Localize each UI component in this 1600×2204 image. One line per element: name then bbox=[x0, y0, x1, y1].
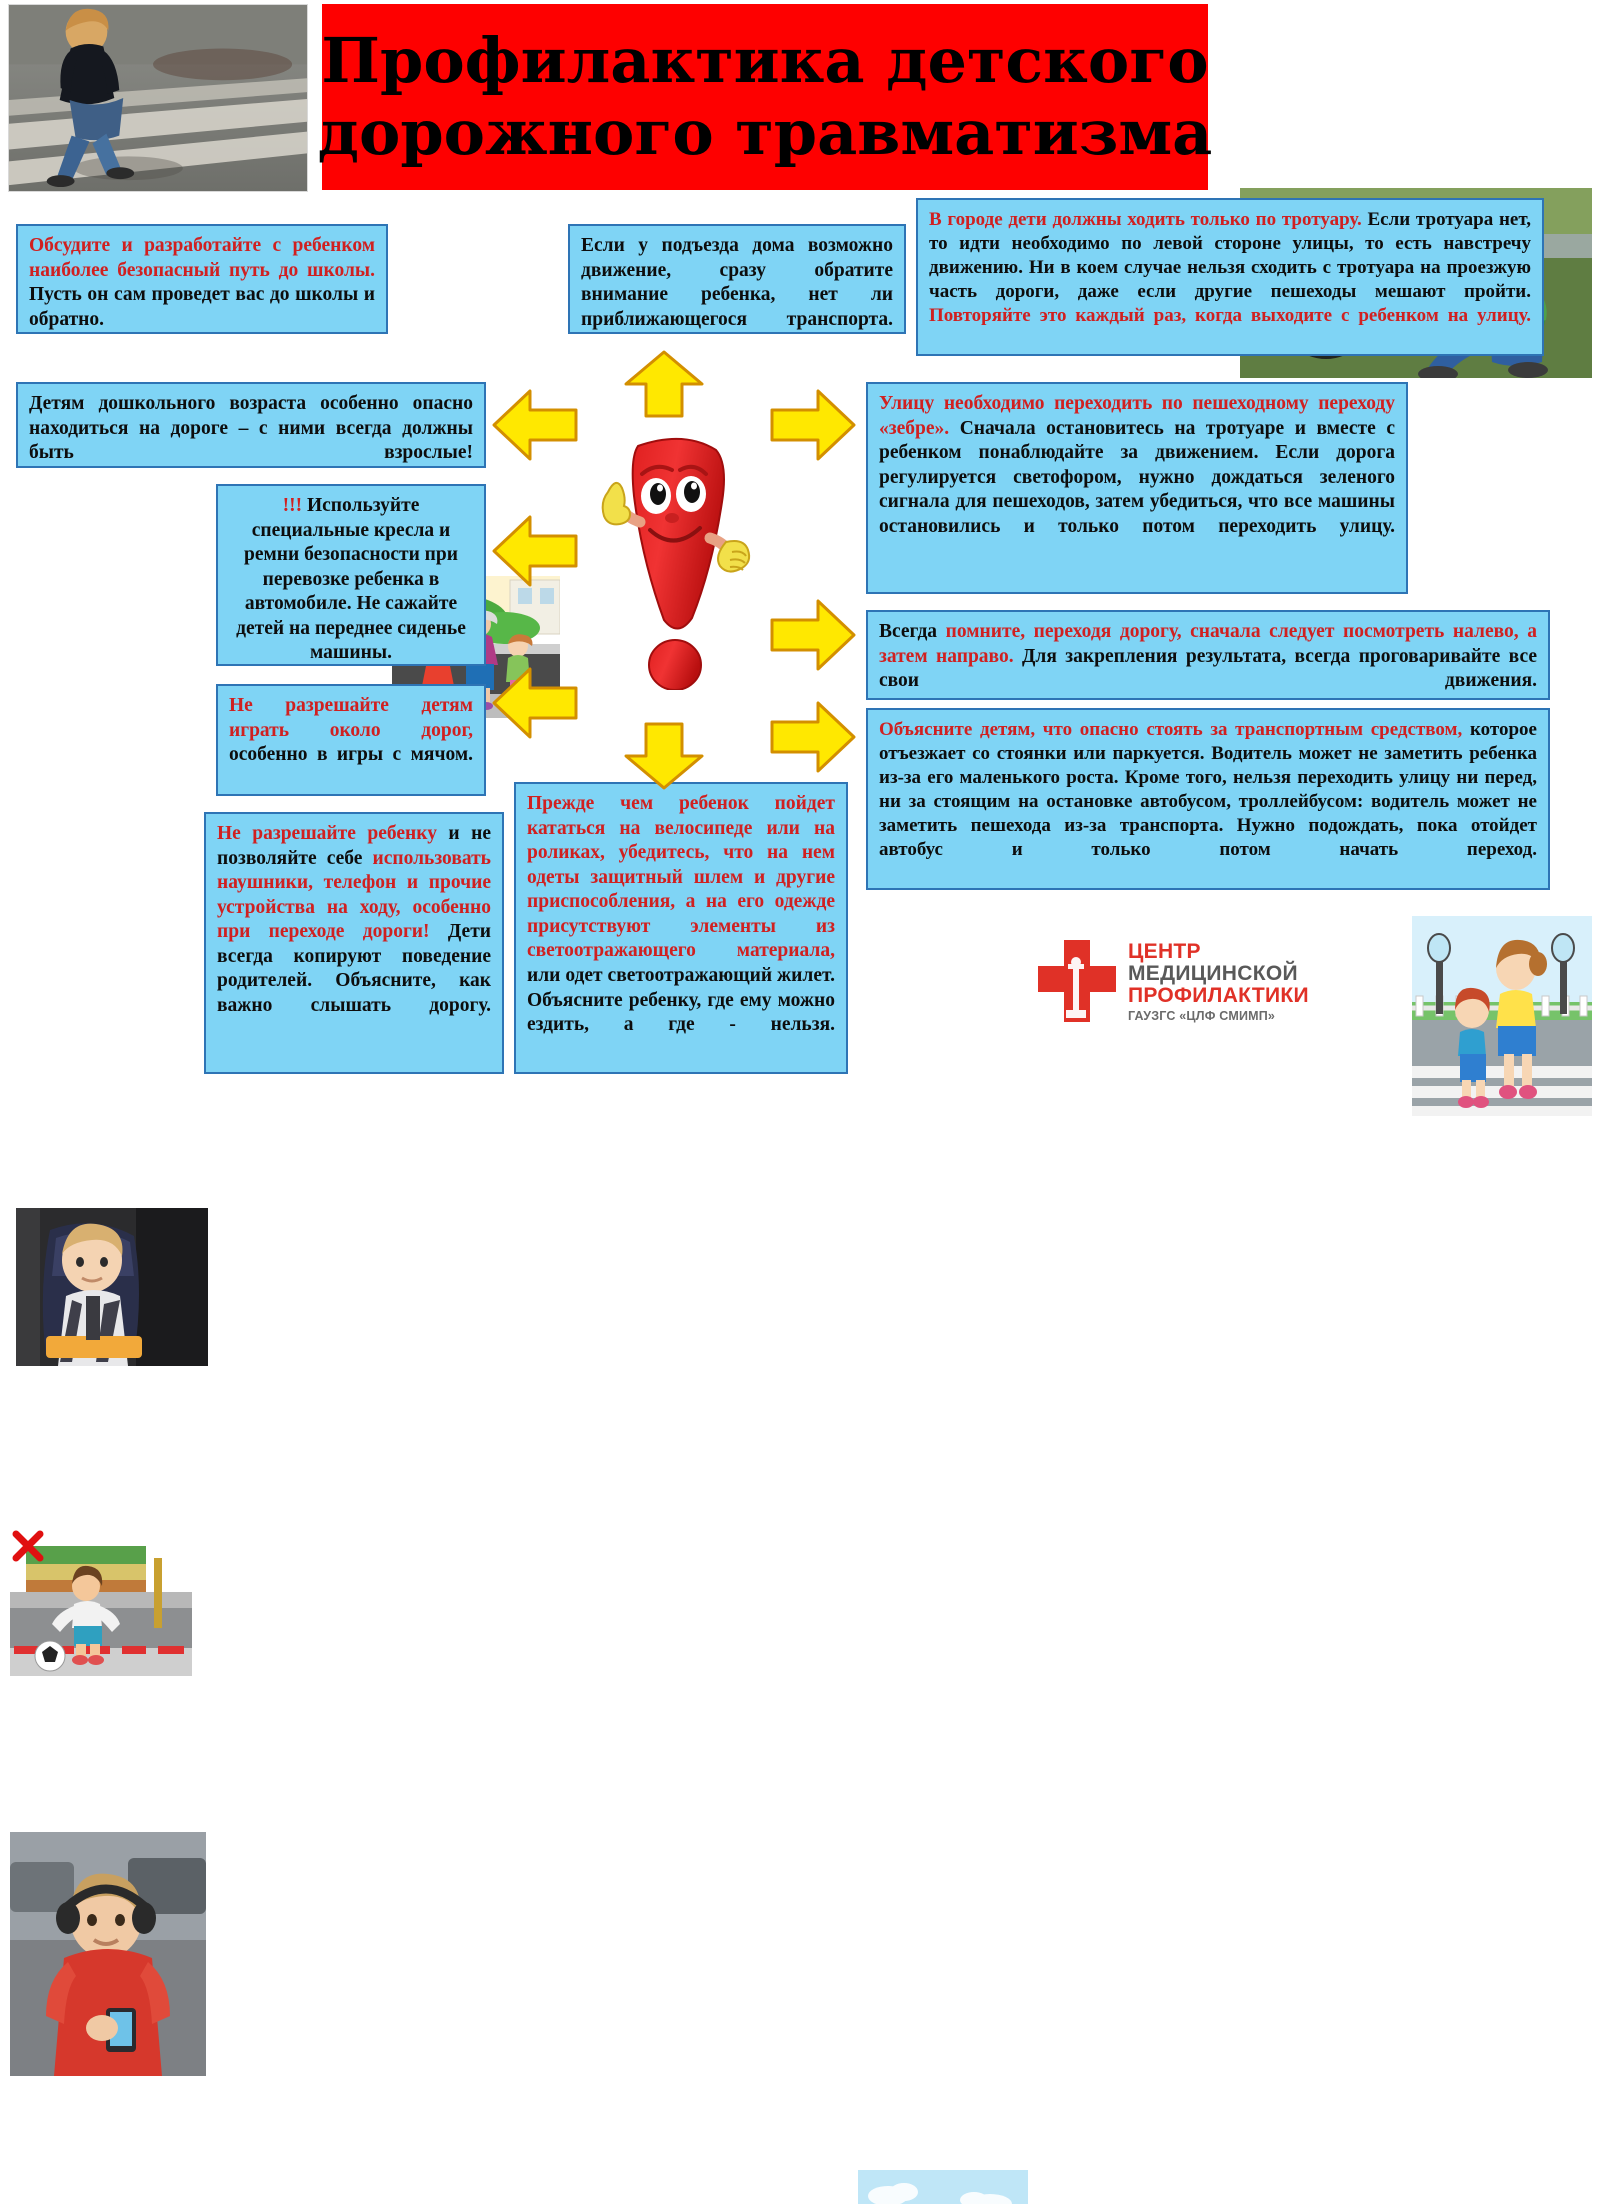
box-sidewalk-red-1: В городе дети должны ходить только по тр… bbox=[929, 209, 1362, 230]
box-behind-vehicle-black: которое отъезжает со стоянки или паркует… bbox=[879, 719, 1537, 860]
box-safe-route-black: Пусть он сам проведет вас до школы и обр… bbox=[29, 284, 375, 330]
arrow-right-lower-icon bbox=[770, 700, 856, 774]
poster-title-line-1: Профилактика детского bbox=[321, 30, 1208, 92]
box-safe-route: Обсудите и разработайте с ребенком наибо… bbox=[16, 224, 388, 334]
box-no-play: Не разрешайте детям играть около дорог, … bbox=[216, 684, 486, 796]
box-preschool-text: Детям дошкольного возраста особенно опас… bbox=[29, 393, 473, 463]
logo-line-1: ЦЕНТР bbox=[1128, 941, 1309, 963]
box-no-play-black: особенно в игры с мячом. bbox=[229, 744, 473, 765]
photo-boy-crosswalk bbox=[8, 4, 308, 192]
photo-boy-headphones bbox=[10, 1832, 206, 2076]
arrow-up-icon bbox=[622, 350, 706, 418]
box-no-play-red: Не разрешайте детям играть около дорог, bbox=[229, 695, 473, 741]
poster-title-line-2: дорожного травматизма bbox=[318, 102, 1213, 164]
illustration-boy-ball-road bbox=[10, 1528, 192, 1676]
illustration-mother-child-zebra bbox=[1412, 916, 1592, 1116]
box-safe-route-red: Обсудите и разработайте с ребенком наибо… bbox=[29, 235, 375, 281]
photo-child-car-seat bbox=[16, 1208, 208, 1366]
organization-logo: ЦЕНТР МЕДИЦИНСКОЙ ПРОФИЛАКТИКИ ГАУЗГС «Ц… bbox=[1030, 920, 1294, 1044]
box-preschool: Детям дошкольного возраста особенно опас… bbox=[16, 382, 486, 468]
arrow-right-middle-icon bbox=[770, 598, 856, 672]
exclamation-mark-mascot bbox=[580, 430, 770, 690]
box-zebra-black: Сначала остановитесь на тротуаре и вмест… bbox=[879, 418, 1395, 537]
poster-title-banner: Профилактика детского дорожного травмати… bbox=[322, 4, 1208, 190]
box-bicycle-red: Прежде чем ребенок пойдет кататься на ве… bbox=[527, 793, 835, 961]
box-sidewalk: В городе дети должны ходить только по тр… bbox=[916, 198, 1544, 356]
box-car-seat-alert: !!! bbox=[283, 495, 302, 516]
logo-line-4: ГАУЗГС «ЦЛФ СМИМП» bbox=[1128, 1010, 1309, 1023]
box-entrance-traffic-text: Если у подъезда дома возможно движение, … bbox=[581, 235, 893, 330]
box-behind-vehicle-red: Объясните детям, что опасно стоять за тр… bbox=[879, 719, 1462, 740]
box-behind-vehicle: Объясните детям, что опасно стоять за тр… bbox=[866, 708, 1550, 890]
arrow-left-lower-icon bbox=[492, 666, 578, 740]
box-look-left-right: Всегда помните, переходя дорогу, сначала… bbox=[866, 610, 1550, 700]
logo-line-2: МЕДИЦИНСКОЙ bbox=[1128, 963, 1309, 985]
arrow-down-icon bbox=[622, 722, 706, 790]
box-headphones: Не разрешайте ребенку и не позволяйте се… bbox=[204, 812, 504, 1074]
box-look-black-1: Всегда bbox=[879, 621, 946, 642]
arrow-left-middle-icon bbox=[492, 514, 578, 588]
box-bicycle-black: или одет светоотражающий жилет. Объяснит… bbox=[527, 965, 835, 1035]
box-sidewalk-red-2: Повторяйте это каждый раз, когда выходит… bbox=[929, 305, 1531, 326]
box-car-seat: !!! Используйте специальные кресла и рем… bbox=[216, 484, 486, 666]
arrow-left-upper-icon bbox=[492, 388, 578, 462]
box-headphones-red-1: Не разрешайте ребенку bbox=[217, 823, 437, 844]
medical-cross-icon bbox=[1030, 936, 1122, 1028]
box-bicycle: Прежде чем ребенок пойдет кататься на ве… bbox=[514, 782, 848, 1074]
logo-text-block: ЦЕНТР МЕДИЦИНСКОЙ ПРОФИЛАКТИКИ ГАУЗГС «Ц… bbox=[1128, 941, 1309, 1023]
illustration-boy-bicycle-city bbox=[858, 2170, 1028, 2204]
box-entrance-traffic: Если у подъезда дома возможно движение, … bbox=[568, 224, 906, 334]
arrow-right-upper-icon bbox=[770, 388, 856, 462]
box-zebra: Улицу необходимо переходить по пешеходно… bbox=[866, 382, 1408, 594]
box-car-seat-text: Используйте специальные кресла и ремни б… bbox=[236, 495, 466, 663]
logo-line-3: ПРОФИЛАКТИКИ bbox=[1128, 985, 1309, 1007]
poster-root: Профилактика детского дорожного травмати… bbox=[0, 0, 1600, 1102]
